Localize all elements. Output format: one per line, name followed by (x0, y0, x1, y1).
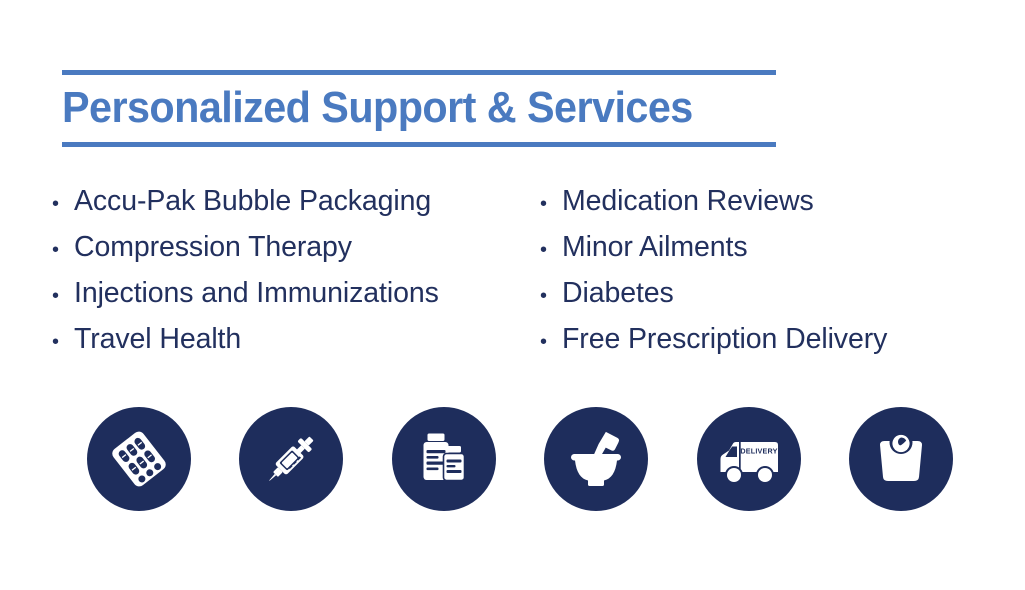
icon-badge-pill-bottles (392, 407, 496, 511)
service-icon-row: DELIVERY (87, 407, 953, 511)
service-label: Minor Ailments (562, 224, 748, 270)
bullet-icon: • (540, 273, 562, 319)
list-item: • Medication Reviews (540, 178, 1002, 224)
bullet-icon: • (52, 273, 74, 319)
icon-badge-weight-scale (849, 407, 953, 511)
icon-badge-blister-pack (87, 407, 191, 511)
bullet-icon: • (52, 319, 74, 365)
pill-bottles-icon (414, 429, 474, 489)
delivery-van-label: DELIVERY (740, 447, 777, 456)
list-item: • Free Prescription Delivery (540, 316, 1002, 362)
service-label: Medication Reviews (562, 178, 814, 224)
blister-pack-icon (108, 428, 170, 490)
icon-badge-syringe (239, 407, 343, 511)
service-label: Compression Therapy (74, 224, 352, 270)
bullet-icon: • (540, 181, 562, 227)
title-rule-bottom (62, 142, 776, 147)
title-block: Personalized Support & Services (62, 70, 776, 147)
mortar-and-pestle-icon (563, 426, 629, 492)
weight-scale-icon (870, 428, 932, 490)
list-item: • Travel Health (52, 316, 540, 362)
services-lists: • Accu-Pak Bubble Packaging • Compressio… (52, 178, 1002, 362)
bullet-icon: • (52, 181, 74, 227)
service-label: Free Prescription Delivery (562, 316, 887, 362)
bullet-icon: • (52, 227, 74, 273)
service-label: Injections and Immunizations (74, 270, 439, 316)
list-item: • Minor Ailments (540, 224, 1002, 270)
list-item: • Compression Therapy (52, 224, 540, 270)
bullet-icon: • (540, 227, 562, 273)
services-list-left: • Accu-Pak Bubble Packaging • Compressio… (52, 178, 540, 362)
service-label: Accu-Pak Bubble Packaging (74, 178, 431, 224)
service-label: Diabetes (562, 270, 674, 316)
list-item: • Injections and Immunizations (52, 270, 540, 316)
page-title: Personalized Support & Services (62, 75, 733, 142)
services-list-right: • Medication Reviews • Minor Ailments • … (540, 178, 1002, 362)
delivery-van-icon: DELIVERY (715, 425, 783, 493)
service-label: Travel Health (74, 316, 241, 362)
icon-badge-delivery-van: DELIVERY (697, 407, 801, 511)
syringe-icon (259, 427, 323, 491)
list-item: • Accu-Pak Bubble Packaging (52, 178, 540, 224)
slide-canvas: Personalized Support & Services • Accu-P… (0, 0, 1025, 590)
bullet-icon: • (540, 319, 562, 365)
list-item: • Diabetes (540, 270, 1002, 316)
icon-badge-mortar-pestle (544, 407, 648, 511)
